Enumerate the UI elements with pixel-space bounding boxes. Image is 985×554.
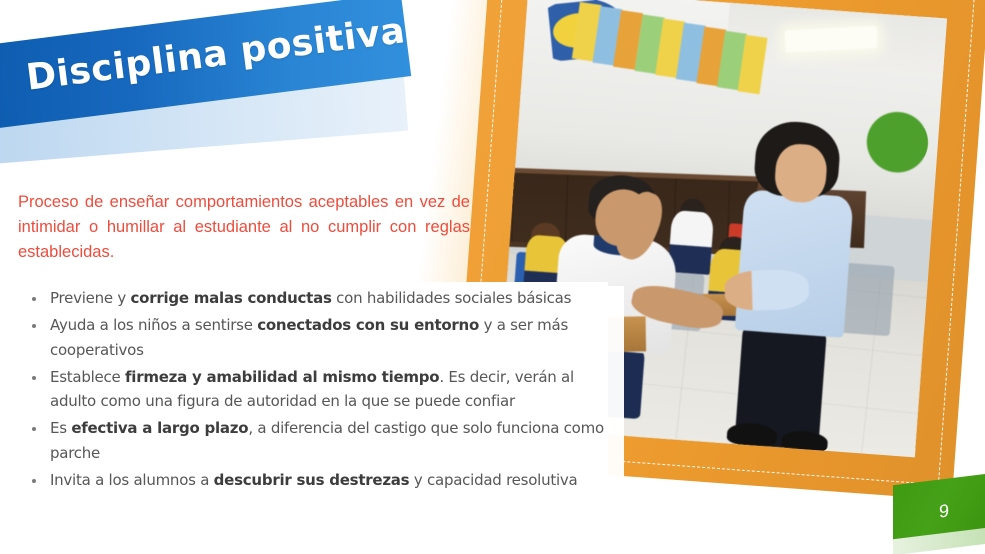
list-item-text-pre: Previene y [50, 289, 131, 307]
list-item-text-emphasis: efectiva a largo plazo [71, 419, 248, 437]
list-item-text-emphasis: conectados con su entorno [257, 316, 479, 334]
list-item: Invita a los alumnos a descubrir sus des… [24, 468, 624, 492]
list-item-text-pre: Establece [50, 368, 125, 386]
list-item-text-emphasis: descubrir sus destrezas [214, 471, 410, 489]
list-item-text-pre: Invita a los alumnos a [50, 471, 214, 489]
list-item-text-pre: Ayuda a los niños a sentirse [50, 316, 257, 334]
list-item-text-post: con habilidades sociales básicas [332, 289, 572, 307]
list-item-text-pre: Es [50, 419, 71, 437]
list-item: Ayuda a los niños a sentirse conectados … [24, 313, 624, 362]
list-item-text-emphasis: corrige malas conductas [131, 289, 332, 307]
page-number: 9 [939, 501, 949, 520]
list-item: Establece firmeza y amabilidad al mismo … [24, 365, 624, 414]
slide: Disciplina positiva Proceso de enseñar c… [0, 0, 985, 554]
list-item: Es efectiva a largo plazo, a diferencia … [24, 416, 624, 465]
bullet-list: Previene y corrige malas conductas con h… [24, 286, 624, 495]
intro-paragraph: Proceso de enseñar comportamientos acept… [18, 190, 470, 264]
list-item-text-emphasis: firmeza y amabilidad al mismo tiempo [125, 368, 439, 386]
list-item: Previene y corrige malas conductas con h… [24, 286, 624, 310]
list-item-text-post: y capacidad resolutiva [409, 471, 577, 489]
